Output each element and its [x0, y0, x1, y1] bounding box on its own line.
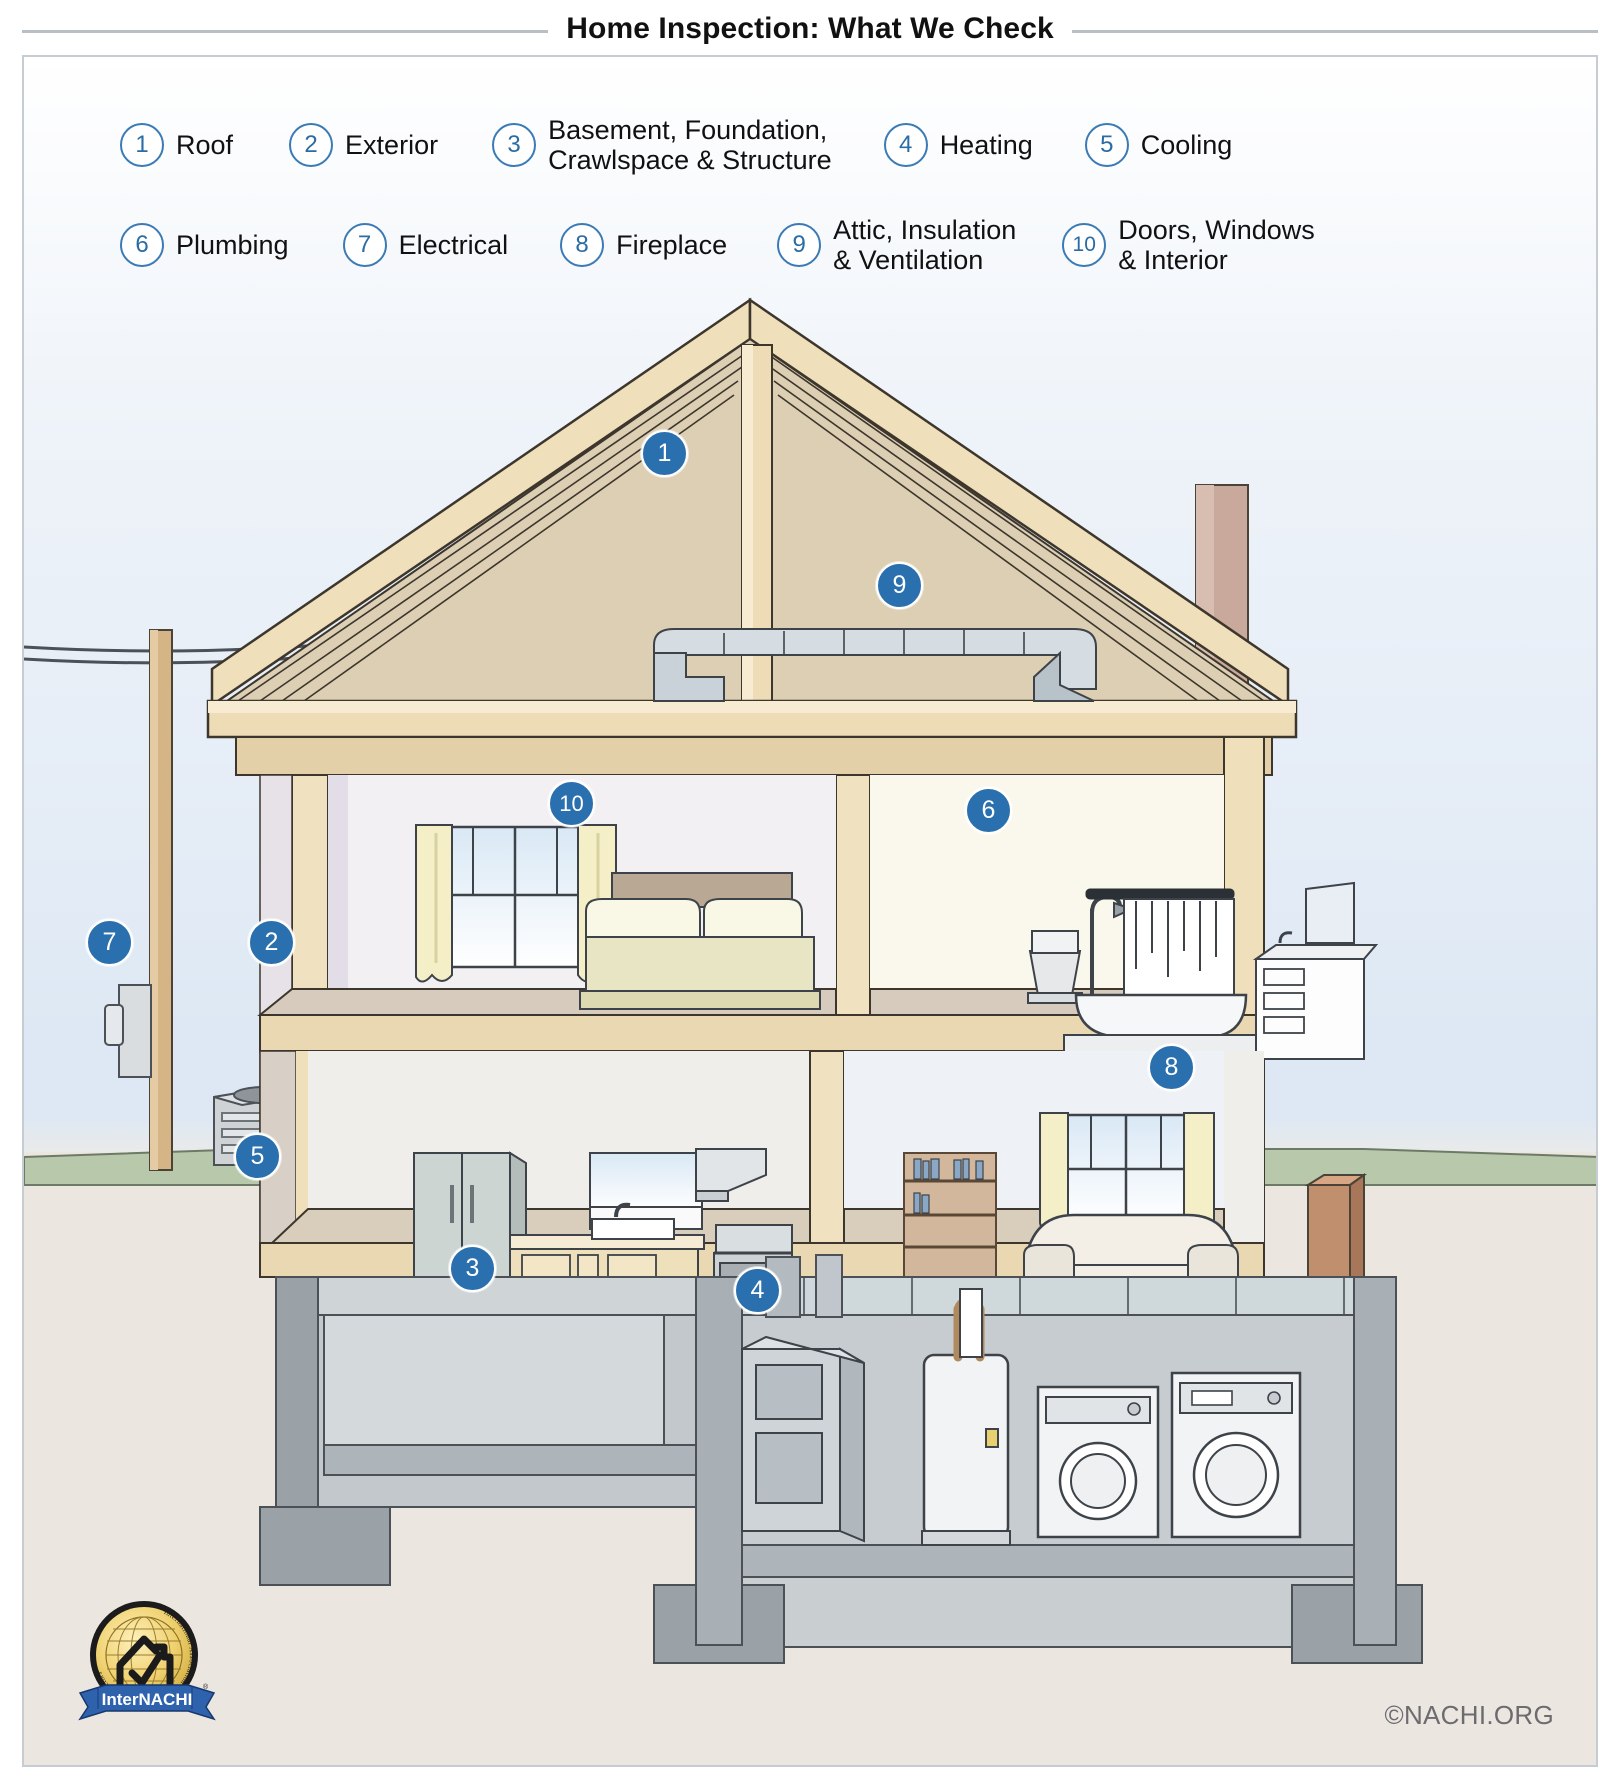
bed-icon: [580, 873, 820, 1009]
title-bar: Home Inspection: What We Check: [0, 0, 1620, 58]
marker-cooling[interactable]: 5: [234, 1133, 281, 1180]
registered-mark-icon: ®: [203, 1683, 209, 1691]
mirror-icon: [1306, 883, 1354, 943]
house-cutaway-illustration: [24, 57, 1598, 1767]
marker-exterior[interactable]: 2: [248, 919, 295, 966]
marker-roof[interactable]: 1: [641, 430, 688, 477]
dryer-icon: [1172, 1373, 1300, 1537]
marker-fireplace[interactable]: 8: [1148, 1044, 1195, 1091]
logo-wordmark: InterNACHI: [102, 1690, 193, 1709]
washer-icon: [1038, 1387, 1158, 1537]
copyright-text: ©NACHI.ORG: [1385, 1700, 1555, 1731]
furnace-icon: [742, 1337, 864, 1541]
internachi-logo: International Association of Certified H…: [72, 1589, 222, 1739]
illustration-frame: 1 Roof 2 Exterior 3 Basement, Foundation…: [22, 55, 1598, 1767]
bedroom-window-icon: [432, 827, 598, 967]
bathroom-vanity-icon: [1256, 933, 1376, 1059]
kitchen-window-icon: [590, 1153, 702, 1211]
infographic-page: Home Inspection: What We Check 1 Roof 2 …: [0, 0, 1620, 1790]
roof-assembly: [208, 300, 1296, 737]
title-rule-right: [1072, 30, 1598, 33]
toilet-icon: [1028, 931, 1082, 1003]
marker-windows[interactable]: 10: [548, 780, 595, 827]
marker-attic[interactable]: 9: [876, 562, 923, 609]
marker-heating[interactable]: 4: [734, 1267, 781, 1314]
marker-electrical[interactable]: 7: [86, 919, 133, 966]
marker-foundation[interactable]: 3: [449, 1245, 496, 1292]
electric-meter-icon: [105, 985, 151, 1077]
page-title: Home Inspection: What We Check: [566, 12, 1054, 46]
marker-plumbing[interactable]: 6: [965, 787, 1012, 834]
title-rule-left: [22, 30, 548, 33]
living-room-window-icon: [1040, 1113, 1214, 1230]
